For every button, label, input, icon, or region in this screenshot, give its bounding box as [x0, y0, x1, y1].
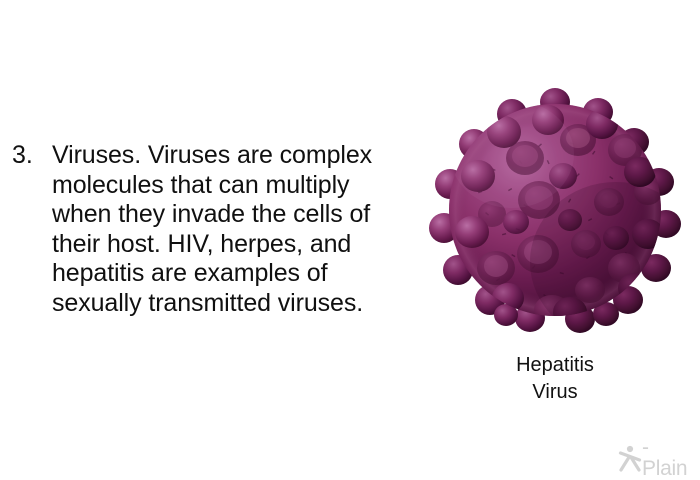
x-plain-logo: -Plain [617, 441, 693, 475]
figure-virus: Hepatitis Virus [420, 72, 690, 412]
hepatitis-virus-image [420, 72, 690, 342]
x-plain-figure-icon [617, 443, 643, 473]
list-item-text: Viruses. Viruses are complex molecules t… [52, 141, 432, 318]
slide-canvas: 3. Viruses. Viruses are complex molecule… [0, 0, 700, 480]
numbered-list-item: 3. Viruses. Viruses are complex molecule… [12, 141, 432, 318]
figure-caption: Hepatitis Virus [420, 352, 690, 406]
caption-line-1: Hepatitis [420, 352, 690, 379]
list-item-number: 3. [12, 141, 52, 171]
caption-line-2: Virus [420, 379, 690, 406]
x-plain-logo-text: -Plain [642, 437, 693, 479]
